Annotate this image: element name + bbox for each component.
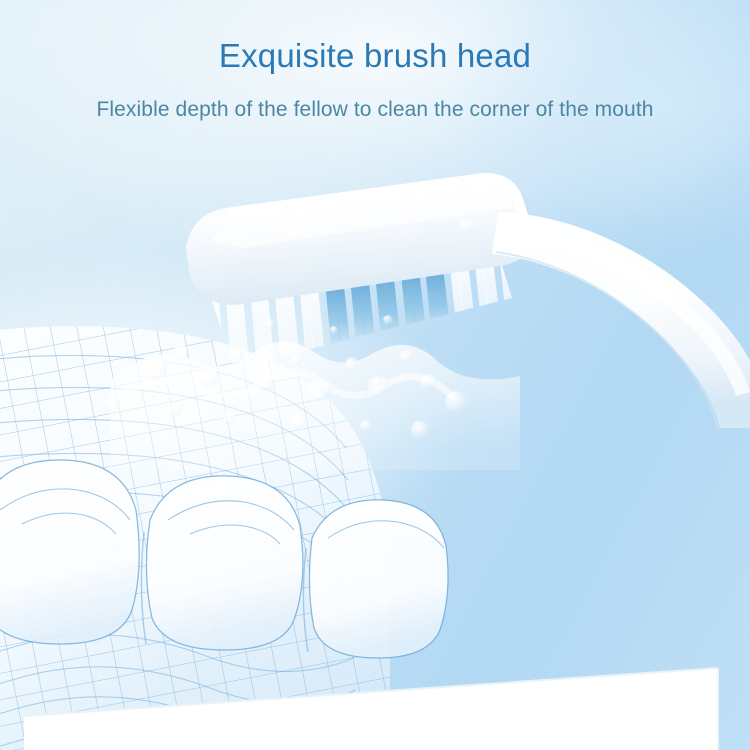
brush-handle xyxy=(492,212,750,428)
toothbrush xyxy=(180,178,750,428)
promo-banner: Exquisite brush head Flexible depth of t… xyxy=(0,0,750,750)
subheadline: Flexible depth of the fellow to clean th… xyxy=(0,95,750,125)
headline: Exquisite brush head xyxy=(0,34,750,78)
